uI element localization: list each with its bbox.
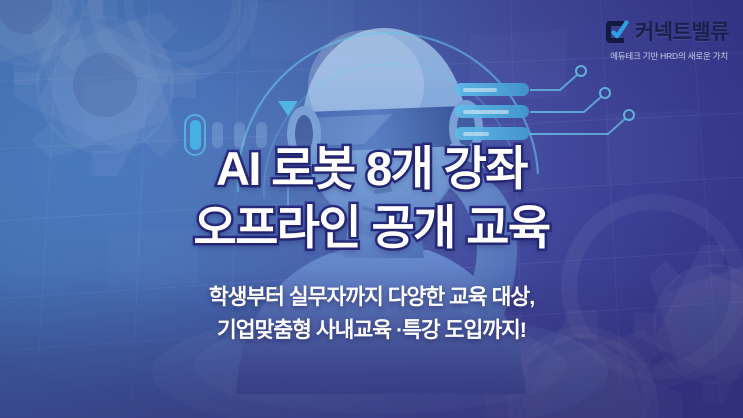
check-badge-icon <box>604 19 630 45</box>
data-bar-fill <box>463 88 497 92</box>
data-bar-fill <box>463 132 489 136</box>
data-bar-fill <box>463 110 509 114</box>
logo-row: 커넥트밸류 <box>604 19 729 45</box>
logo-tagline: 에듀테크 기반 HRD의 새로운 가치 <box>610 50 728 62</box>
headline-line-1: AI 로봇 8개 강좌 <box>0 142 743 197</box>
brand-logo[interactable]: 커넥트밸류 에듀테크 기반 HRD의 새로운 가치 <box>604 19 729 62</box>
promo-banner: 커넥트밸류 에듀테크 기반 HRD의 새로운 가치 AI 로봇 8개 강좌 오프… <box>0 0 743 418</box>
headline-line-2: 오프라인 공개 교육 <box>0 201 743 256</box>
subtitle-line-2: 기업맞춤형 사내교육 ·특강 도입까지! <box>0 315 743 346</box>
copy-block: AI 로봇 8개 강좌 오프라인 공개 교육 학생부터 실무자까지 다양한 교육… <box>0 142 743 345</box>
triangle-marker-icon <box>276 98 300 118</box>
logo-wordmark: 커넥트밸류 <box>635 22 729 43</box>
subtitle-line-1: 학생부터 실무자까지 다양한 교육 대상, <box>0 282 743 313</box>
